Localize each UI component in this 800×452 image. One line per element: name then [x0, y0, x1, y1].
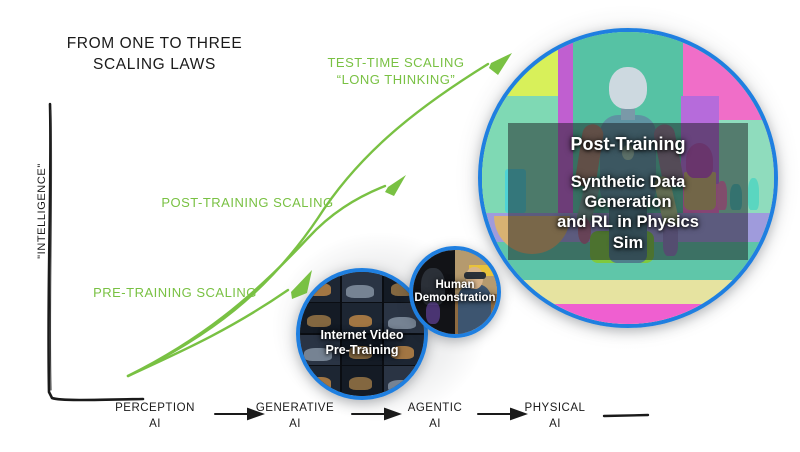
video-thumb [384, 335, 424, 365]
stage-label-perception: PERCEPTION AI [100, 401, 210, 432]
robot-head [609, 67, 646, 109]
y-axis-label: "INTELLIGENCE" [36, 141, 48, 281]
stage-label-generative: GENERATIVE AI [240, 401, 350, 432]
operator-silhouette [421, 268, 445, 305]
curve-label-pre-training: PRE-TRAINING SCALING [80, 285, 270, 302]
video-thumb [342, 366, 382, 396]
robot-kitchen-scene: Post-Training Synthetic Data Generation … [482, 32, 774, 324]
stage-label-agentic: AGENTIC AI [380, 401, 490, 432]
caption-overlay-panel [508, 123, 747, 260]
video-thumb [300, 272, 340, 302]
curve-label-post-training: POST-TRAINING SCALING [150, 195, 345, 212]
video-thumb [300, 335, 340, 365]
video-thumb [342, 272, 382, 302]
stage-label-physical: PHYSICAL AI [500, 401, 610, 432]
video-thumb [342, 303, 382, 333]
video-thumb [300, 366, 340, 396]
video-grid [300, 272, 424, 396]
curve-label-test-time: TEST-TIME SCALING “LONG THINKING” [296, 55, 496, 89]
bottle [748, 178, 760, 210]
slide-canvas: FROM ONE TO THREE SCALING LAWS "INTELLIG… [0, 0, 800, 452]
page-title: FROM ONE TO THREE SCALING LAWS [42, 34, 267, 76]
video-thumb [342, 335, 382, 365]
human-demo-photo-left [413, 250, 455, 334]
internet-video-thumbnail-grid [300, 272, 424, 396]
device-glow [426, 302, 440, 324]
video-thumb [384, 366, 424, 396]
bubble-post-training: Post-Training Synthetic Data Generation … [478, 28, 778, 328]
video-thumb [300, 303, 340, 333]
kitchen-floor-front [482, 304, 774, 324]
